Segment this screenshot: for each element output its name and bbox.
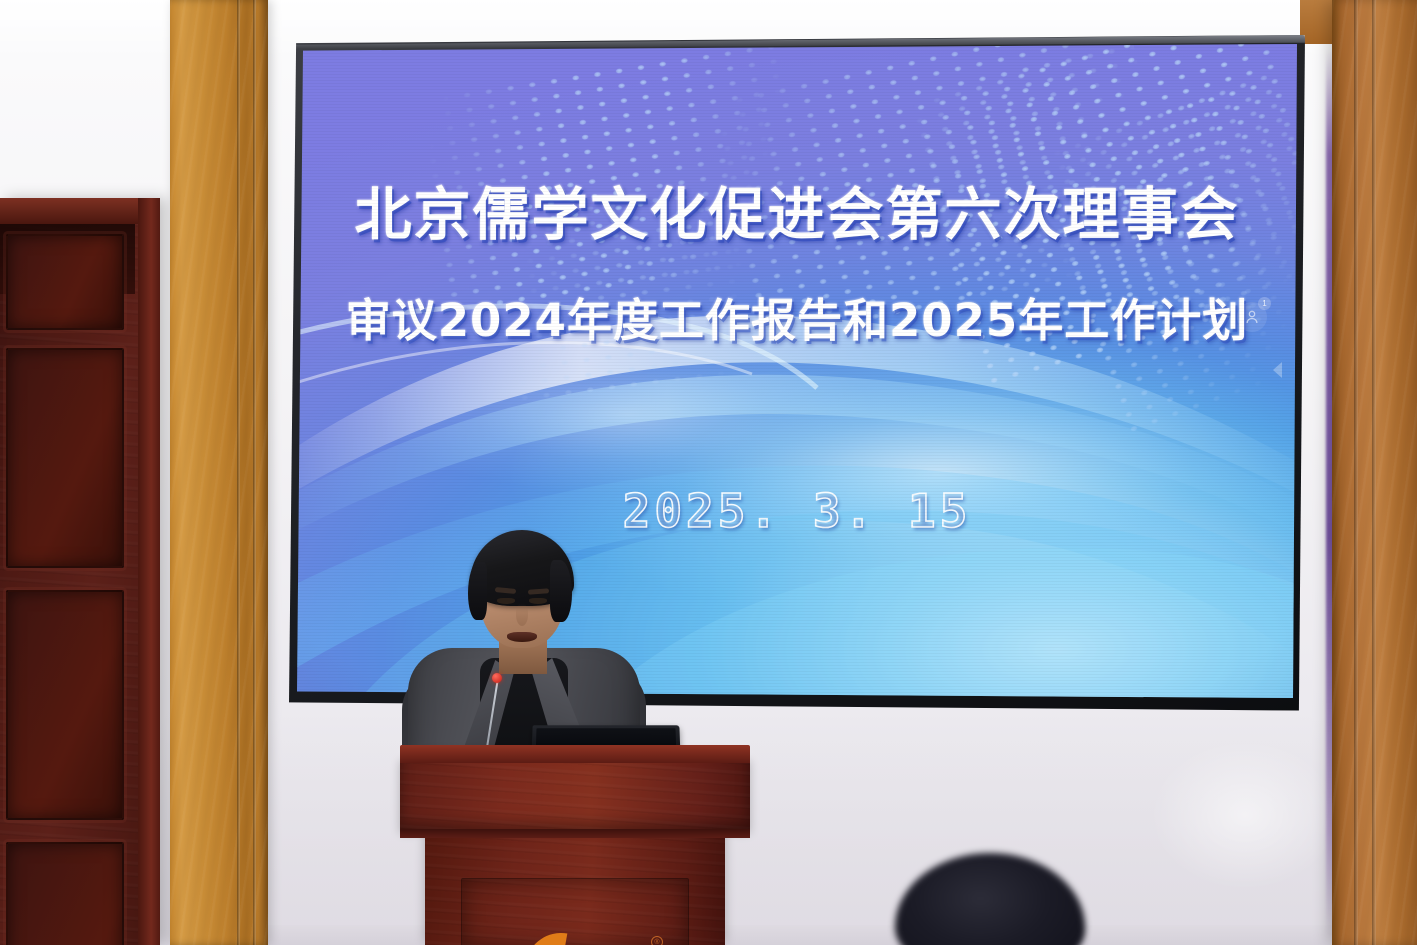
door-frame-right xyxy=(138,198,160,945)
microphone-indicator xyxy=(492,673,502,683)
speaker-eye-left xyxy=(497,598,515,604)
door-panel-1 xyxy=(6,234,124,330)
speaker-eye-right xyxy=(529,598,547,604)
left-pillar-groove-2 xyxy=(253,0,256,945)
user-badge-count: 1 xyxy=(1258,297,1271,310)
podium-body: ® xyxy=(425,838,725,945)
door-panel-4 xyxy=(6,842,124,945)
speaker-mouth xyxy=(507,632,537,642)
registered-mark-icon: ® xyxy=(651,936,663,945)
left-wooden-door[interactable] xyxy=(0,198,160,945)
slide-main-title: 北京儒学文化促进会第六次理事会 xyxy=(297,169,1297,251)
chevron-left-icon[interactable] xyxy=(1273,362,1282,378)
user-icon[interactable]: 1 xyxy=(1237,302,1267,332)
podium-logo xyxy=(525,933,597,945)
right-wood-pillar xyxy=(1332,0,1417,945)
speaker-hair-left xyxy=(468,562,487,620)
podium-lip xyxy=(400,829,750,838)
door-panel-2 xyxy=(6,348,124,568)
user-icon-glyph xyxy=(1243,308,1261,326)
podium-desktop xyxy=(400,757,750,829)
left-wood-pillar xyxy=(170,0,268,945)
podium-logo-arc xyxy=(525,933,597,945)
right-pillar-groove-1 xyxy=(1354,0,1358,945)
slide-subtitle: 审议2024年度工作报告和2025年工作计划 xyxy=(297,284,1297,349)
conference-room-scene: 北京儒学文化促进会第六次理事会 审议2024年度工作报告和2025年工作计划 2… xyxy=(0,0,1417,945)
speaker-nose xyxy=(516,604,528,626)
left-pillar-groove-1 xyxy=(237,0,240,945)
podium-top-edge xyxy=(400,745,750,763)
right-pillar-groove-2 xyxy=(1372,0,1376,945)
door-frame-top xyxy=(0,198,160,224)
door-panel-3 xyxy=(6,590,124,820)
podium-desktop-texture xyxy=(400,757,750,829)
podium: ® xyxy=(425,757,725,945)
